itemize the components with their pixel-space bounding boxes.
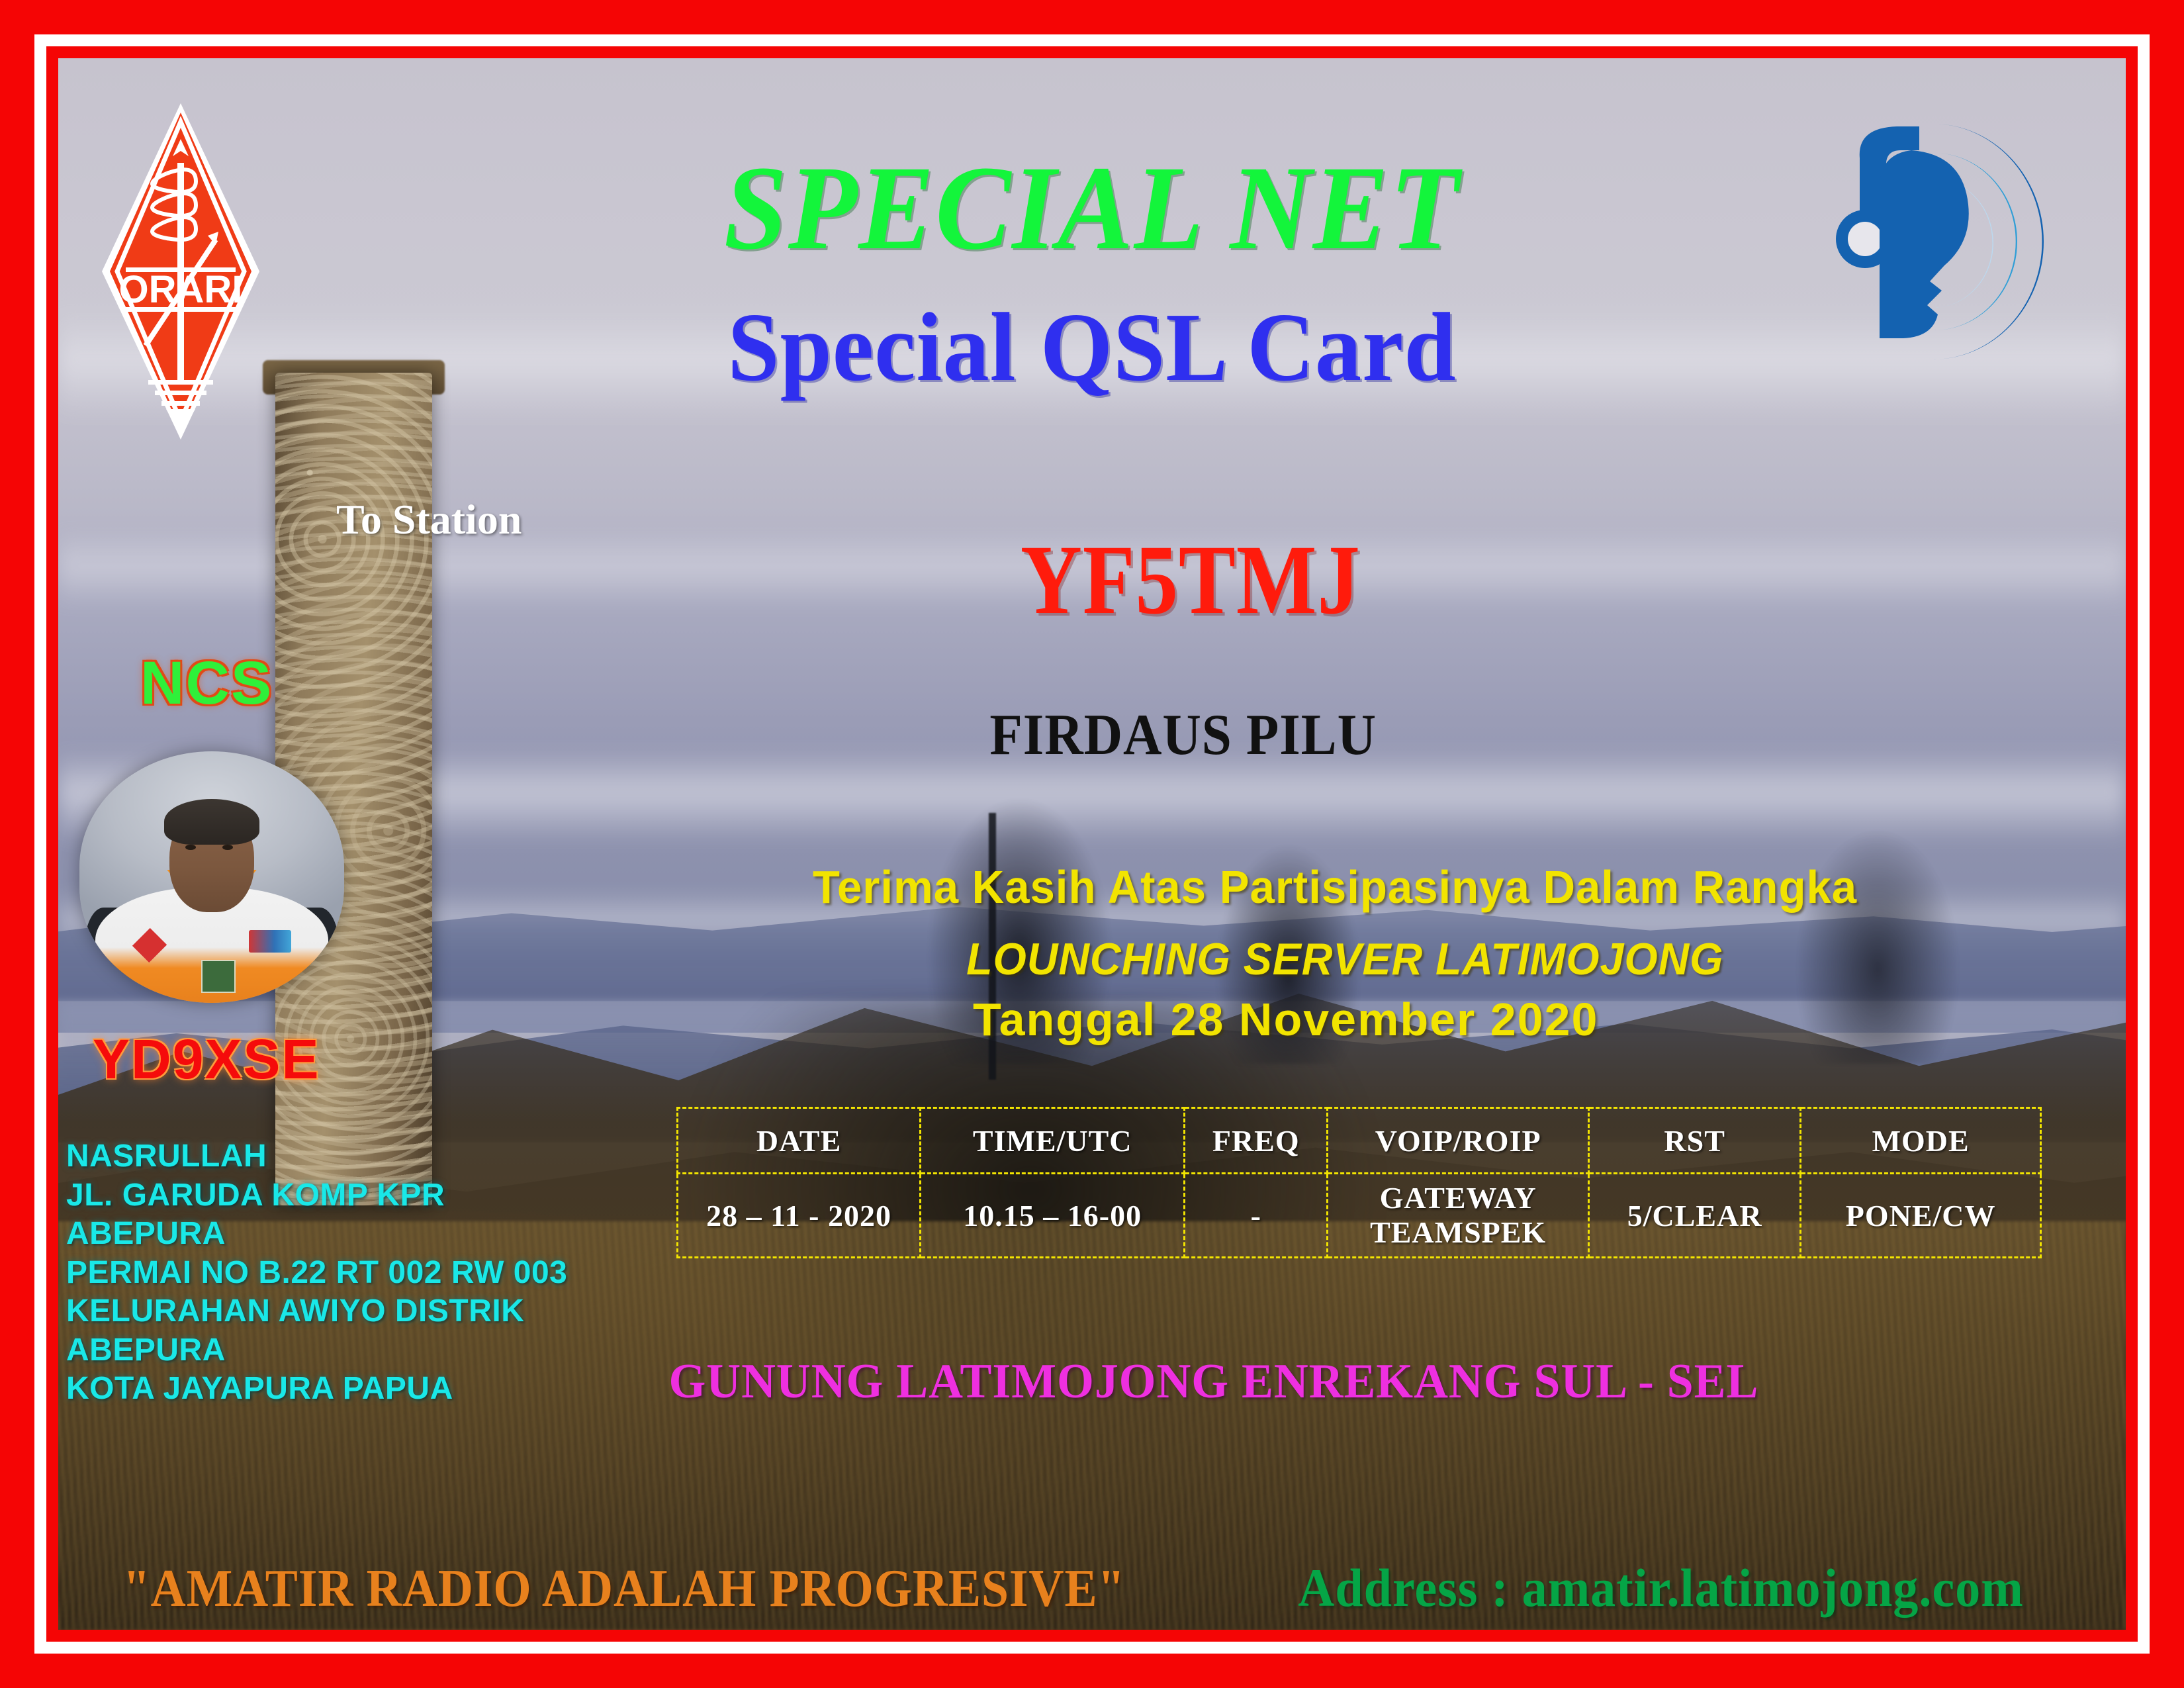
web-address: Address : amatir.latimojong.com — [1298, 1557, 2023, 1619]
cell-voip-line1: GATEWAY — [1328, 1181, 1588, 1215]
thanks-line-3: Tanggal 28 November 2020 — [973, 993, 1598, 1046]
photo-chest-logo — [249, 930, 291, 953]
address-line: ABEPURA — [66, 1331, 609, 1370]
cell-voip-line2: TEAMSPEK — [1328, 1215, 1588, 1250]
address-line: JL. GARUDA KOMP KPR — [66, 1176, 609, 1215]
to-station-label: To Station — [336, 495, 522, 544]
motto-text: "AMATIR RADIO ADALAH PROGRESIVE" — [123, 1559, 1125, 1619]
address-line: PERMAI NO B.22 RT 002 RW 003 — [66, 1254, 609, 1293]
ncs-callsign: YD9XSE — [93, 1027, 320, 1092]
operator-name: FIRDAUS PILU — [989, 702, 1377, 769]
address-line: KOTA JAYAPURA PAPUA — [66, 1370, 609, 1409]
thanks-line-2: LOUNCHING SERVER LATIMOJONG — [966, 933, 1723, 985]
cell-date: 28 – 11 - 2020 — [678, 1174, 921, 1258]
thanks-line-1: Terima Kasih Atas Partisipasinya Dalam R… — [813, 861, 1857, 914]
address-line: ABEPURA — [66, 1215, 609, 1254]
table-header-mode: MODE — [1801, 1108, 2041, 1174]
ncs-operator-photo — [79, 751, 344, 1003]
page-title: SPECIAL NET — [66, 139, 2118, 277]
page-subtitle: Special QSL Card — [55, 291, 2130, 404]
table-header-row: DATE TIME/UTC FREQ VOIP/ROIP RST MODE — [678, 1108, 2041, 1174]
ncs-label: NCS — [140, 649, 273, 718]
table-header-rst: RST — [1589, 1108, 1801, 1174]
table-header-date: DATE — [678, 1108, 921, 1174]
address-line: NASRULLAH — [66, 1137, 609, 1176]
location-line: GUNUNG LATIMOJONG ENREKANG SUL - SEL — [668, 1354, 1758, 1410]
table-row: 28 – 11 - 2020 10.15 – 16-00 - GATEWAY T… — [678, 1174, 2041, 1258]
qsl-card: ORARI SPECIAL NET Special QSL Card To St… — [0, 0, 2184, 1688]
cell-mode: PONE/CW — [1801, 1174, 2041, 1258]
table-header-voip: VOIP/ROIP — [1328, 1108, 1589, 1174]
cell-voip: GATEWAY TEAMSPEK — [1328, 1174, 1589, 1258]
ncs-address-block: NASRULLAH JL. GARUDA KOMP KPR ABEPURA PE… — [66, 1137, 609, 1409]
cell-time: 10.15 – 16-00 — [921, 1174, 1185, 1258]
table-header-time: TIME/UTC — [921, 1108, 1185, 1174]
photo-hair — [164, 799, 259, 844]
station-callsign: YF5TMJ — [1021, 523, 1361, 637]
photo-eye-left — [185, 845, 196, 850]
photo-id-card — [201, 960, 236, 993]
photo-eye-right — [222, 845, 233, 850]
cell-rst: 5/CLEAR — [1589, 1174, 1801, 1258]
table-header-freq: FREQ — [1185, 1108, 1328, 1174]
cell-freq: - — [1185, 1174, 1328, 1258]
address-line: KELURAHAN AWIYO DISTRIK — [66, 1292, 609, 1331]
qso-log-table: DATE TIME/UTC FREQ VOIP/ROIP RST MODE 28… — [676, 1107, 2042, 1258]
